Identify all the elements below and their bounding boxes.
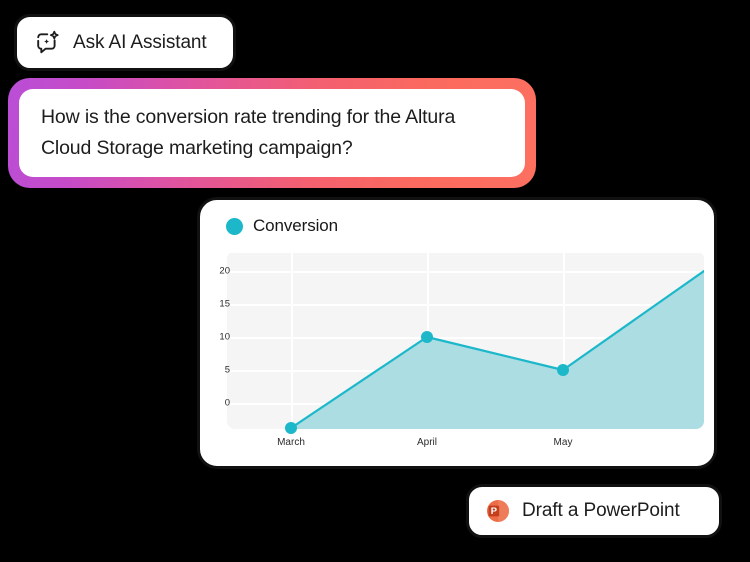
y-tick-15: 15: [204, 299, 230, 310]
data-point-may[interactable]: [557, 364, 569, 376]
y-tick-5: 5: [204, 365, 230, 376]
ai-prompt-card[interactable]: How is the conversion rate trending for …: [8, 78, 536, 188]
area-fill: [291, 271, 704, 429]
y-tick-20: 20: [204, 266, 230, 277]
chart-plot-wrapper: 20 15 10 5 0 March April May: [214, 251, 700, 449]
chart-legend: Conversion: [226, 216, 700, 236]
x-tick-may: May: [554, 437, 573, 448]
draft-powerpoint-label: Draft a PowerPoint: [522, 500, 680, 522]
y-tick-0: 0: [204, 398, 230, 409]
y-tick-10: 10: [204, 332, 230, 343]
data-point-march[interactable]: [285, 422, 297, 434]
draft-powerpoint-button[interactable]: P Draft a PowerPoint: [466, 484, 722, 538]
ai-prompt-text: How is the conversion rate trending for …: [41, 102, 503, 164]
chart-series-conversion: [227, 251, 704, 429]
data-point-april[interactable]: [421, 331, 433, 343]
conversion-chart-card: Conversion: [197, 197, 717, 469]
powerpoint-icon: P: [485, 498, 511, 524]
x-tick-april: April: [417, 437, 437, 448]
ai-prompt-card-inner: How is the conversion rate trending for …: [19, 89, 525, 177]
ai-chat-sparkle-icon: [33, 28, 63, 58]
ask-ai-assistant-label: Ask AI Assistant: [73, 32, 207, 54]
x-tick-march: March: [277, 437, 305, 448]
ask-ai-assistant-button[interactable]: Ask AI Assistant: [14, 14, 236, 71]
legend-series-label: Conversion: [253, 216, 338, 236]
svg-text:P: P: [491, 505, 497, 516]
legend-color-dot: [226, 218, 243, 235]
